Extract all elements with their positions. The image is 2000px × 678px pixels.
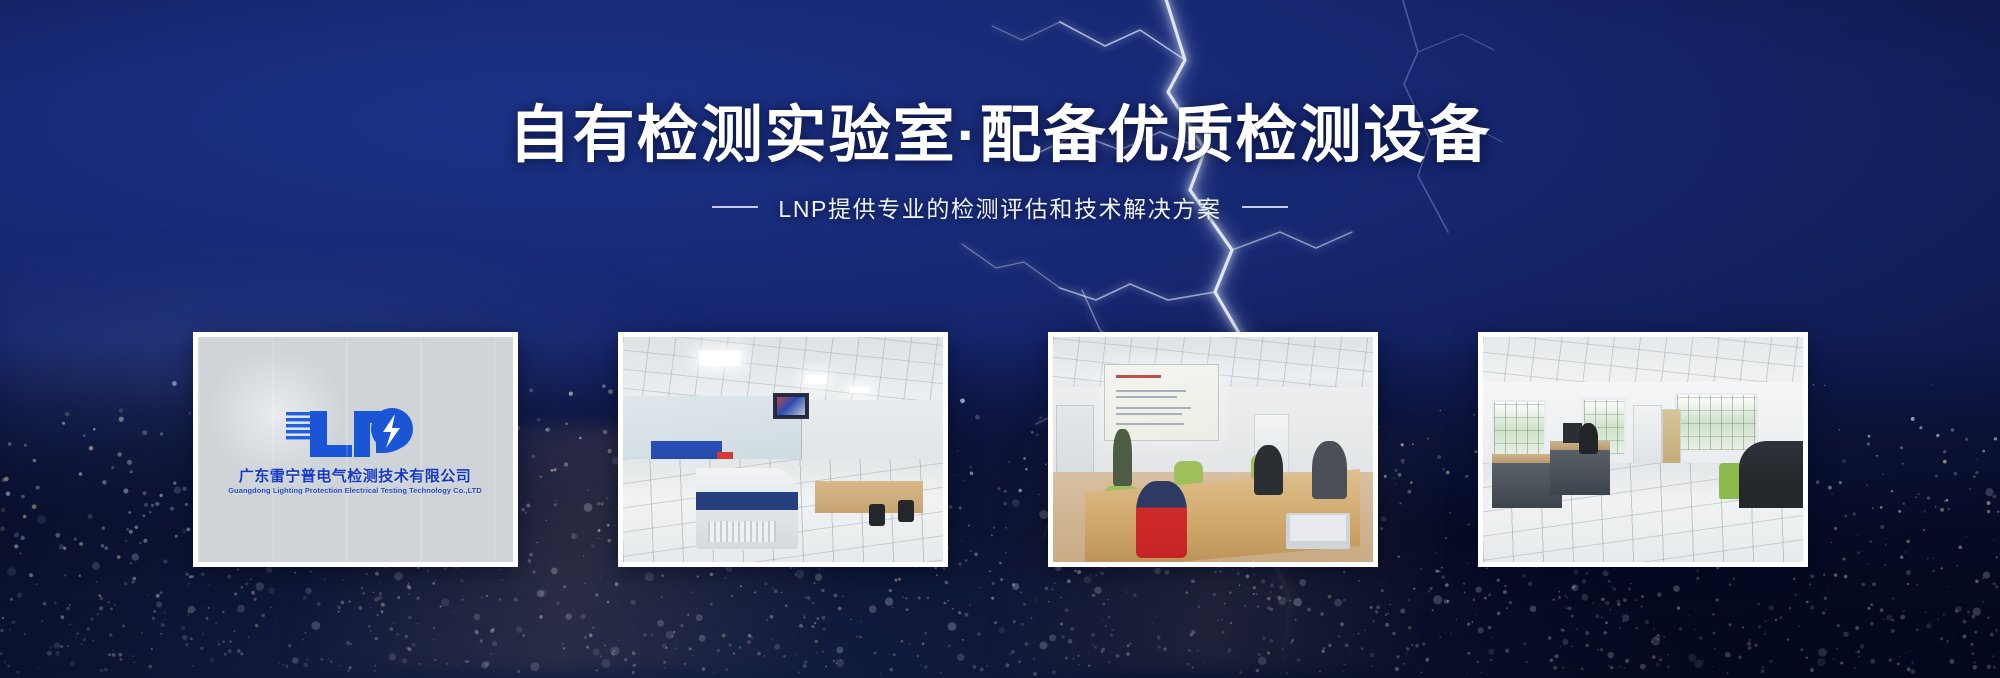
slide-heading	[1116, 375, 1161, 378]
slide-line	[1116, 413, 1182, 415]
office-cabinet	[1633, 405, 1662, 473]
reception-counter	[1739, 441, 1803, 509]
laptop	[1286, 513, 1350, 549]
photo-meeting-training-room	[1053, 337, 1373, 562]
logo-block: 广东雷宁普电气检测技术有限公司 Guangdong Lighting Prote…	[198, 405, 513, 495]
page-title: 自有检测实验室·配备优质检测设备	[0, 104, 2000, 168]
wall-glare	[210, 351, 374, 509]
office-worker	[1579, 423, 1598, 455]
company-name-cn: 广东雷宁普电气检测技术有限公司	[198, 465, 513, 486]
attendee	[1136, 481, 1187, 558]
photo-testing-laboratory	[623, 337, 943, 562]
gallery-card-meeting-training-room[interactable]	[1048, 332, 1378, 567]
lab-chair	[898, 500, 914, 522]
presenter	[1113, 429, 1132, 488]
attendee	[1254, 445, 1283, 495]
meeting-scene	[1053, 337, 1373, 562]
lab-chair	[869, 504, 885, 526]
lab-scene	[623, 337, 943, 562]
gallery-card-testing-laboratory[interactable]	[618, 332, 948, 567]
slide-line	[1116, 407, 1191, 409]
page-subtitle: LNP提供专业的检测评估和技术解决方案	[778, 190, 1221, 224]
ceiling-light	[805, 375, 827, 384]
hero-banner: 自有检测实验室·配备优质检测设备 LNP提供专业的检测评估和技术解决方案	[0, 0, 2000, 678]
lnp-logo-icon	[280, 405, 430, 463]
photo-company-logo-wall: 广东雷宁普电气检测技术有限公司 Guangdong Lighting Prote…	[198, 337, 513, 562]
photo-office-area	[1483, 337, 1803, 562]
gallery-card-office-area[interactable]	[1478, 332, 1808, 567]
photo-gallery: 广东雷宁普电气检测技术有限公司 Guangdong Lighting Prote…	[0, 316, 2000, 583]
rule-right-icon	[1242, 206, 1288, 208]
attendee	[1312, 441, 1347, 500]
control-console	[696, 468, 798, 549]
office-shelf	[1662, 409, 1681, 470]
office-window	[1675, 393, 1758, 452]
headline-block: 自有检测实验室·配备优质检测设备 LNP提供专业的检测评估和技术解决方案	[0, 104, 2000, 224]
slide-line	[1116, 390, 1186, 392]
ceiling-light	[699, 351, 741, 367]
office-scene	[1483, 337, 1803, 562]
gallery-card-company-logo-wall[interactable]: 广东雷宁普电气检测技术有限公司 Guangdong Lighting Prote…	[193, 332, 518, 567]
company-name-en: Guangdong Lighting Protection Electrical…	[198, 486, 513, 495]
slide-line	[1116, 396, 1177, 398]
subtitle-row: LNP提供专业的检测评估和技术解决方案	[0, 190, 2000, 224]
office-window	[1492, 400, 1546, 459]
rule-left-icon	[712, 206, 758, 208]
slide-line	[1116, 423, 1184, 425]
ceiling-light	[850, 387, 869, 394]
wall-monitor	[773, 393, 809, 419]
